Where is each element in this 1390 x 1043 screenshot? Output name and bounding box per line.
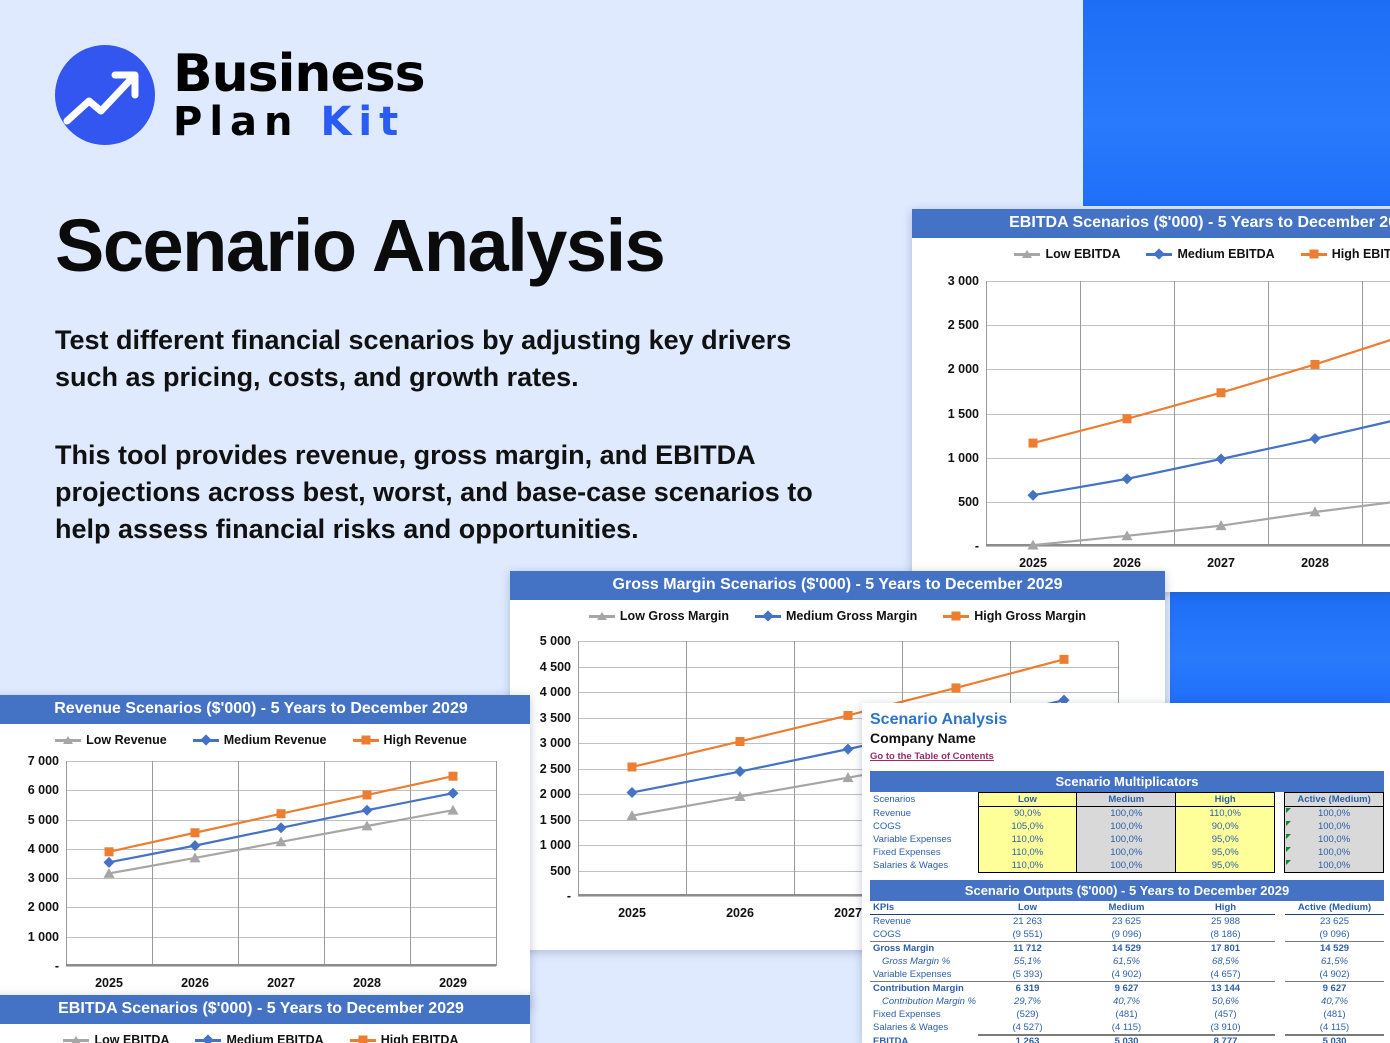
cell-active: 100,0% — [1285, 807, 1384, 821]
decorative-block-middle — [1170, 591, 1390, 703]
brand-plan-word: Plan — [173, 99, 300, 145]
table-row: Salaries & Wages110,0%100,0%95,0%100,0% — [870, 859, 1384, 873]
table-row: Contribution Margin %29,7%40,7%50,6%40,7… — [870, 995, 1384, 1008]
column-header-active: Active (Medium) — [1285, 901, 1384, 915]
table-row: Variable Expenses(5 393)(4 902)(4 657)(4… — [870, 968, 1384, 982]
legend-item-low: Low EBITDA — [63, 1033, 169, 1043]
table-row: Fixed Expenses(529)(481)(457)(481) — [870, 1008, 1384, 1021]
y-axis-tick-label: 500 — [550, 864, 578, 878]
table-row: Gross Margin %55,1%61,5%68,5%61,5% — [870, 955, 1384, 968]
column-header-high: High — [1176, 901, 1275, 915]
cell-low[interactable]: 105,0% — [978, 820, 1077, 833]
row-label: Gross Margin % — [870, 955, 978, 968]
cell-active: 100,0% — [1285, 820, 1384, 833]
legend-item-medium: Medium EBITDA — [1146, 247, 1274, 261]
series-marker — [1123, 414, 1132, 423]
legend-item-medium: Medium Revenue — [193, 733, 327, 747]
row-label: Variable Expenses — [870, 968, 978, 982]
chart-plot-area: -5001 0001 5002 0002 5003 00020252026202… — [986, 281, 1390, 546]
cell-medium: (481) — [1077, 1008, 1176, 1021]
y-axis-tick-label: 3 000 — [948, 274, 986, 288]
legend-item-low: Low EBITDA — [1014, 247, 1120, 261]
x-axis-tick-label: 2025 — [1019, 546, 1047, 570]
legend-item-medium: Medium EBITDA — [195, 1033, 323, 1043]
y-axis-tick-label: 6 000 — [28, 783, 66, 797]
cell-low: (4 527) — [978, 1021, 1077, 1035]
y-axis-tick-label: 1 000 — [540, 838, 578, 852]
cell-high: 68,5% — [1176, 955, 1275, 968]
y-axis-tick-label: 2 000 — [948, 362, 986, 376]
series-marker — [276, 822, 287, 833]
column-header-low: Low — [978, 793, 1077, 807]
brand-logo: Business Plan Kit — [55, 45, 855, 145]
series-marker — [448, 805, 459, 815]
cell-active: (9 096) — [1285, 928, 1384, 942]
column-header-active: Active (Medium) — [1285, 793, 1384, 807]
legend-item-low: Low Revenue — [55, 733, 167, 747]
legend-item-high: High EBITDA — [350, 1033, 459, 1043]
y-axis-tick-label: 4 000 — [540, 685, 578, 699]
row-label: Salaries & Wages — [870, 1021, 978, 1035]
cell-active: 100,0% — [1285, 833, 1384, 846]
row-label: Fixed Expenses — [870, 846, 978, 859]
series-marker — [1029, 439, 1038, 448]
y-axis-tick-label: 2 000 — [540, 787, 578, 801]
y-axis-tick-label: - — [567, 889, 578, 903]
series-marker — [1122, 473, 1133, 484]
chart-title: EBITDA Scenarios ($'000) - 5 Years to De… — [912, 209, 1390, 238]
row-label: Revenue — [870, 807, 978, 821]
comment-flag-icon — [1286, 847, 1291, 852]
series-marker — [627, 787, 638, 798]
column-header-medium: Medium — [1077, 793, 1176, 807]
series-marker — [449, 772, 458, 781]
y-axis-tick-label: 4 000 — [28, 842, 66, 856]
y-axis-tick-label: 5 000 — [28, 813, 66, 827]
legend-item-high: High Revenue — [353, 733, 467, 747]
series-marker — [843, 744, 854, 755]
comment-flag-icon — [1286, 834, 1291, 839]
cell-active: 40,7% — [1285, 995, 1384, 1008]
cell-high[interactable]: 90,0% — [1176, 820, 1275, 833]
y-axis-tick-label: 2 000 — [28, 900, 66, 914]
brand-name-line1: Business — [173, 48, 425, 100]
row-label: Variable Expenses — [870, 833, 978, 846]
chart-title: EBITDA Scenarios ($'000) - 5 Years to De… — [0, 995, 530, 1024]
cell-low: 55,1% — [978, 955, 1077, 968]
chart-title: Revenue Scenarios ($'000) - 5 Years to D… — [0, 695, 530, 724]
series-marker — [1310, 433, 1321, 444]
decorative-block-top — [1083, 0, 1390, 206]
x-axis-tick-label: 2026 — [1113, 546, 1141, 570]
cell-active: 100,0% — [1285, 846, 1384, 859]
row-label: COGS — [870, 928, 978, 942]
y-axis-tick-label: 5 000 — [540, 634, 578, 648]
cell-low: (529) — [978, 1008, 1077, 1021]
row-label: Salaries & Wages — [870, 859, 978, 873]
cell-medium: 61,5% — [1077, 955, 1176, 968]
cell-active: (4 902) — [1285, 968, 1384, 982]
cell-medium: 23 625 — [1077, 915, 1176, 929]
cell-low[interactable]: 110,0% — [978, 833, 1077, 846]
table-row: Fixed Expenses110,0%100,0%95,0%100,0% — [870, 846, 1384, 859]
hero-paragraph-1: Test different financial scenarios by ad… — [55, 322, 845, 397]
brand-name-line2: Plan Kit — [173, 102, 425, 142]
table-row: Revenue90,0%100,0%110,0%100,0% — [870, 807, 1384, 821]
legend-item-medium: Medium Gross Margin — [755, 609, 917, 623]
series-marker — [448, 788, 459, 799]
x-axis-tick-label: 2029 — [439, 966, 467, 990]
scenarios-label: Scenarios — [870, 793, 978, 807]
cell-active: 61,5% — [1285, 955, 1384, 968]
cell-active: (4 115) — [1285, 1021, 1384, 1035]
sheet-title: Scenario Analysis — [870, 711, 1390, 729]
table-row: Variable Expenses110,0%100,0%95,0%100,0% — [870, 833, 1384, 846]
x-axis-tick-label: 2026 — [726, 896, 754, 920]
cell-high: 50,6% — [1176, 995, 1275, 1008]
series-marker — [736, 737, 745, 746]
x-axis-tick-label: 2027 — [1207, 546, 1235, 570]
table-row: COGS105,0%100,0%90,0%100,0% — [870, 820, 1384, 833]
row-label: Contribution Margin — [870, 982, 978, 996]
y-axis-tick-label: - — [55, 959, 66, 973]
series-marker — [1311, 360, 1320, 369]
series-marker — [105, 847, 114, 856]
table-row: Contribution Margin6 3199 62713 1449 627 — [870, 982, 1384, 996]
table-row: Gross Margin11 71214 52917 80114 529 — [870, 942, 1384, 956]
page-title: Scenario Analysis — [55, 203, 855, 288]
cell-low: 11 712 — [978, 942, 1077, 956]
series-marker — [844, 711, 853, 720]
chart-card-ebitda-bottom: EBITDA Scenarios ($'000) - 5 Years to De… — [0, 995, 530, 1043]
scenario-outputs-table: KPIs Low Medium High Active (Medium) Rev… — [870, 901, 1384, 1043]
x-axis-tick-label: 2026 — [181, 966, 209, 990]
table-row: COGS(9 551)(9 096)(8 186)(9 096) — [870, 928, 1384, 942]
cell-high: (3 910) — [1176, 1021, 1275, 1035]
cell-low: 1 263 — [978, 1035, 1077, 1043]
cell-high: 17 801 — [1176, 942, 1275, 956]
table-row: EBITDA1 2635 0308 7775 030 — [870, 1035, 1384, 1043]
series-marker — [952, 683, 961, 692]
y-axis-tick-label: 1 000 — [28, 930, 66, 944]
chart-legend: Low Gross Margin Medium Gross Margin Hig… — [510, 600, 1165, 625]
cell-active: 9 627 — [1285, 982, 1384, 996]
cell-medium[interactable]: 100,0% — [1077, 807, 1176, 821]
cell-medium: 5 030 — [1077, 1035, 1176, 1043]
chart-title: Gross Margin Scenarios ($'000) - 5 Years… — [510, 571, 1165, 600]
cell-medium[interactable]: 100,0% — [1077, 820, 1176, 833]
table-header-row: Scenarios Low Medium High Active (Medium… — [870, 793, 1384, 807]
x-axis-tick-label: 2025 — [618, 896, 646, 920]
y-axis-tick-label: 3 500 — [540, 711, 578, 725]
series-marker — [277, 809, 286, 818]
series-line — [1033, 334, 1390, 443]
cell-high: 8 777 — [1176, 1035, 1275, 1043]
scenario-outputs-band: Scenario Outputs ($'000) - 5 Years to De… — [870, 880, 1384, 901]
column-header-medium: Medium — [1077, 901, 1176, 915]
cell-low: (5 393) — [978, 968, 1077, 982]
cell-active: 14 529 — [1285, 942, 1384, 956]
series-marker — [1216, 453, 1227, 464]
y-axis-tick-label: 3 000 — [540, 736, 578, 750]
cell-low: (9 551) — [978, 928, 1077, 942]
y-axis-tick-label: 500 — [958, 495, 986, 509]
chart-card-revenue: Revenue Scenarios ($'000) - 5 Years to D… — [0, 695, 530, 1008]
cell-medium[interactable]: 100,0% — [1077, 846, 1176, 859]
table-header-row: KPIs Low Medium High Active (Medium) — [870, 901, 1384, 915]
series-marker — [190, 840, 201, 851]
y-axis-tick-label: 2 500 — [540, 762, 578, 776]
hero-paragraph-2: This tool provides revenue, gross margin… — [55, 437, 845, 549]
chart-card-ebitda-top: EBITDA Scenarios ($'000) - 5 Years to De… — [912, 209, 1390, 592]
table-row: Salaries & Wages(4 527)(4 115)(3 910)(4 … — [870, 1021, 1384, 1035]
chart-legend: Low Revenue Medium Revenue High Revenue — [0, 724, 530, 749]
comment-flag-icon — [1286, 860, 1291, 865]
kpis-label: KPIs — [870, 901, 978, 915]
chart-series-layer — [986, 281, 1390, 546]
series-marker — [735, 766, 746, 777]
cell-high: 13 144 — [1176, 982, 1275, 996]
series-marker — [104, 857, 115, 868]
scenario-analysis-sheet: Scenario Analysis Company Name Go to the… — [862, 703, 1390, 1043]
chart-series-layer — [66, 761, 496, 966]
row-label: COGS — [870, 820, 978, 833]
cell-medium[interactable]: 100,0% — [1077, 859, 1176, 873]
cell-active: 23 625 — [1285, 915, 1384, 929]
y-axis-tick-label: 3 000 — [28, 871, 66, 885]
chart-legend: Low EBITDA Medium EBITDA High EBITDA — [0, 1024, 530, 1043]
cell-low: 29,7% — [978, 995, 1077, 1008]
column-header-low: Low — [978, 901, 1077, 915]
cell-low[interactable]: 110,0% — [978, 859, 1077, 873]
growth-arrow-icon — [55, 45, 155, 145]
y-axis-tick-label: 1 500 — [540, 813, 578, 827]
cell-high: 25 988 — [1176, 915, 1275, 929]
cell-active: (481) — [1285, 1008, 1384, 1021]
cell-medium: (4 115) — [1077, 1021, 1176, 1035]
x-axis-tick-label: 2028 — [1301, 546, 1329, 570]
chart-plot-area: -1 0002 0003 0004 0005 0006 0007 0002025… — [66, 761, 496, 966]
row-label: Contribution Margin % — [870, 995, 978, 1008]
series-line — [1033, 500, 1390, 545]
cell-high: (8 186) — [1176, 928, 1275, 942]
scenario-multiplicators-band: Scenario Multiplicators — [870, 771, 1384, 792]
row-label: EBITDA — [870, 1035, 978, 1043]
cell-low[interactable]: 110,0% — [978, 846, 1077, 859]
table-of-contents-link[interactable]: Go to the Table of Contents — [870, 751, 994, 762]
series-marker — [628, 762, 637, 771]
cell-low[interactable]: 90,0% — [978, 807, 1077, 821]
cell-active: 5 030 — [1285, 1035, 1384, 1043]
cell-high: (457) — [1176, 1008, 1275, 1021]
series-marker — [362, 805, 373, 816]
comment-flag-icon — [1286, 808, 1291, 813]
legend-item-low: Low Gross Margin — [589, 609, 729, 623]
x-axis-tick-label: 2027 — [834, 896, 862, 920]
y-axis-tick-label: 4 500 — [540, 660, 578, 674]
y-axis-tick-label: 1 000 — [948, 451, 986, 465]
x-axis-tick-label: 2025 — [95, 966, 123, 990]
cell-medium: (9 096) — [1077, 928, 1176, 942]
chart-legend: Low EBITDA Medium EBITDA High EBITDA — [912, 238, 1390, 263]
cell-high: (4 657) — [1176, 968, 1275, 982]
y-axis-tick-label: 1 500 — [948, 407, 986, 421]
cell-medium: (4 902) — [1077, 968, 1176, 982]
table-row: Revenue21 26323 62525 98823 625 — [870, 915, 1384, 929]
cell-medium[interactable]: 100,0% — [1077, 833, 1176, 846]
y-axis-tick-label: 2 500 — [948, 318, 986, 332]
brand-kit-word: Kit — [320, 99, 405, 145]
cell-high[interactable]: 95,0% — [1176, 846, 1275, 859]
legend-item-high: High Gross Margin — [943, 609, 1086, 623]
scenario-multiplicators-table: Scenarios Low Medium High Active (Medium… — [870, 792, 1384, 873]
cell-low: 6 319 — [978, 982, 1077, 996]
gridline-vertical — [496, 761, 497, 966]
series-marker — [1217, 388, 1226, 397]
hero-section: Business Plan Kit Scenario Analysis Test… — [55, 45, 855, 548]
comment-flag-icon — [1286, 821, 1291, 826]
x-axis-tick-label: 2027 — [267, 966, 295, 990]
cell-medium: 9 627 — [1077, 982, 1176, 996]
row-label: Fixed Expenses — [870, 1008, 978, 1021]
series-marker — [363, 790, 372, 799]
row-label: Gross Margin — [870, 942, 978, 956]
cell-low: 21 263 — [978, 915, 1077, 929]
cell-medium: 40,7% — [1077, 995, 1176, 1008]
y-axis-tick-label: 7 000 — [28, 754, 66, 768]
y-axis-tick-label: - — [975, 539, 986, 553]
series-marker — [1060, 655, 1069, 664]
series-marker — [191, 828, 200, 837]
column-header-high: High — [1176, 793, 1275, 807]
legend-item-high: High EBITDA — [1301, 247, 1390, 261]
x-axis-tick-label: 2028 — [353, 966, 381, 990]
cell-high[interactable]: 110,0% — [1176, 807, 1275, 821]
cell-medium: 14 529 — [1077, 942, 1176, 956]
series-marker — [1028, 490, 1039, 501]
cell-active: 100,0% — [1285, 859, 1384, 873]
cell-high[interactable]: 95,0% — [1176, 833, 1275, 846]
cell-high[interactable]: 95,0% — [1176, 859, 1275, 873]
row-label: Revenue — [870, 915, 978, 929]
sheet-company-name: Company Name — [870, 730, 1390, 746]
